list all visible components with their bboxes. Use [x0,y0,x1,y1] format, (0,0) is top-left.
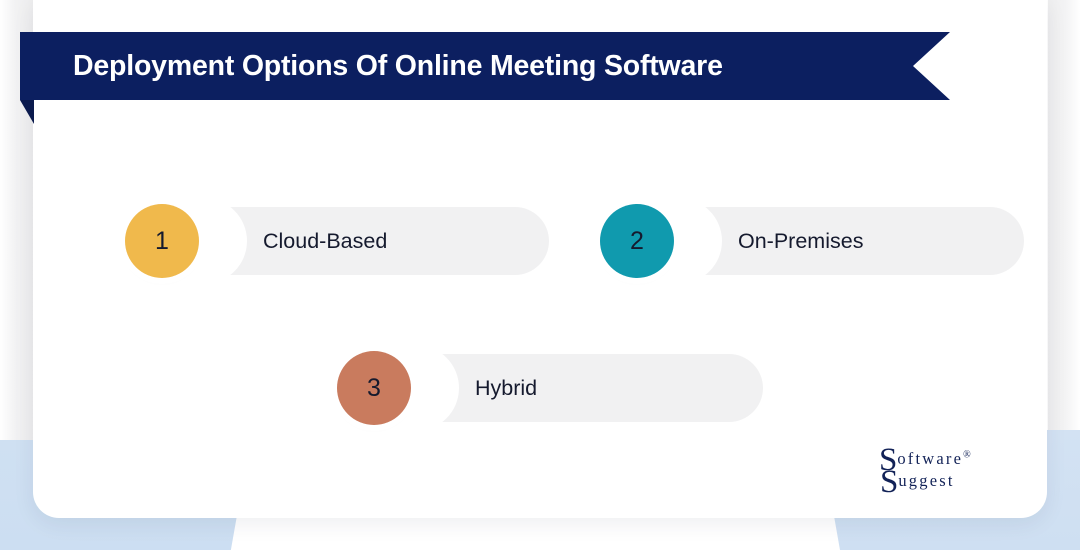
content-card: Deployment Options Of Online Meeting Sof… [33,0,1047,518]
option-item-2[interactable]: 2 On-Premises [600,204,1024,278]
title-ribbon: Deployment Options Of Online Meeting Sof… [20,32,950,100]
logo-word-suggest: uggest [898,471,954,490]
registered-mark-icon: ® [963,450,971,461]
option-number-2: 2 [630,227,644,256]
option-item-1[interactable]: 1 Cloud-Based [125,204,549,278]
option-number-3: 3 [367,374,381,403]
logo-initial-s-bottom: S [880,464,898,500]
softwaresuggest-logo[interactable]: Software® Suggest [879,440,1029,496]
option-number-badge-3: 3 [337,351,411,425]
option-label-1: Cloud-Based [263,207,387,275]
infographic-canvas: Deployment Options Of Online Meeting Sof… [0,0,1080,550]
option-number-badge-1: 1 [125,204,199,278]
logo-line-2: Suggest [880,464,955,501]
option-number-1: 1 [155,227,169,256]
option-label-2: On-Premises [738,207,863,275]
page-title: Deployment Options Of Online Meeting Sof… [73,32,723,100]
option-item-3[interactable]: 3 Hybrid [337,351,763,425]
option-number-badge-2: 2 [600,204,674,278]
option-label-3: Hybrid [475,354,537,422]
